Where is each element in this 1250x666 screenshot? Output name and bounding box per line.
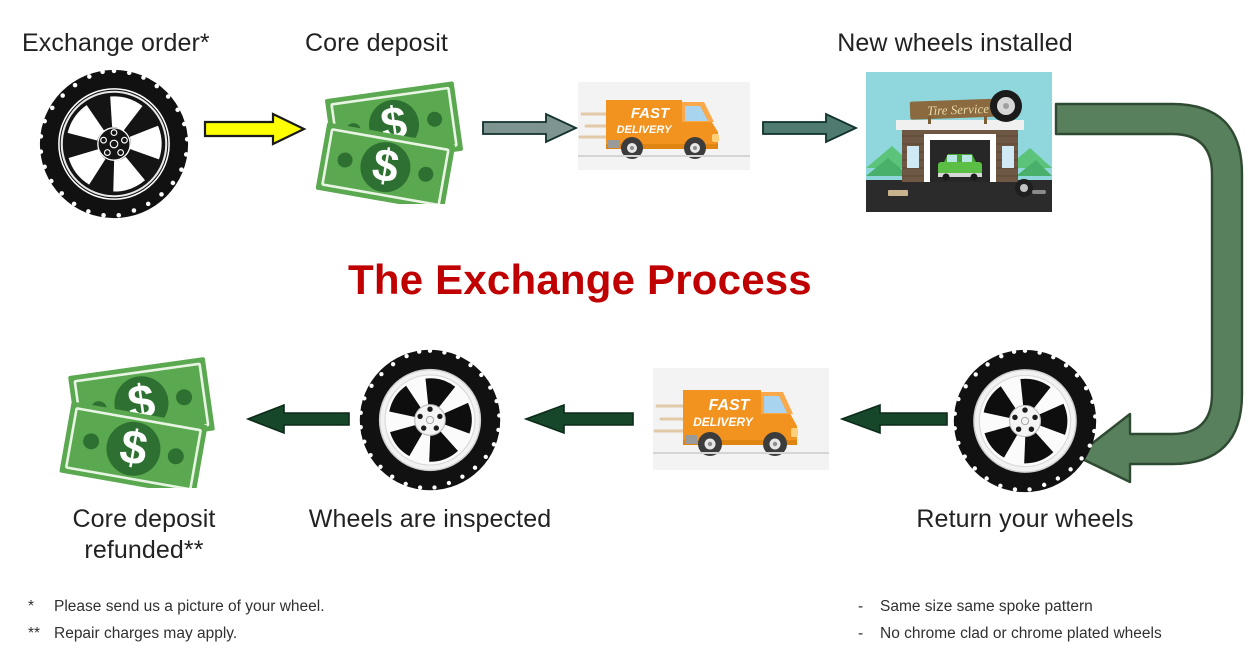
truck-text-delivery: DELIVERY — [693, 415, 754, 429]
step-label-refund-line1: Core deposit — [38, 504, 250, 535]
step-label-core-deposit: Core deposit — [305, 28, 505, 59]
tire-service-shop-graphic: Tire Service — [866, 72, 1052, 212]
dollar-bills-graphic-top: $ $ — [312, 72, 476, 204]
truck-text-fast: FAST — [709, 397, 751, 414]
notes-right: - Same size same spoke pattern - No chro… — [858, 594, 1250, 647]
dollar-bills-graphic-bottom: $ $ — [58, 352, 230, 488]
shop-sign-text: Tire Service — [927, 101, 990, 118]
note-text: No chrome clad or chrome plated wheels — [880, 621, 1162, 648]
truck-text-delivery: DELIVERY — [617, 124, 673, 136]
truck-text-fast: FAST — [631, 105, 671, 122]
note-right-1: - Same size same spoke pattern — [858, 594, 1250, 621]
note-right-2: - No chrome clad or chrome plated wheels — [858, 621, 1250, 648]
note-mark: - — [858, 594, 880, 621]
note-mark: ** — [28, 621, 54, 648]
notes-left: * Please send us a picture of your wheel… — [28, 594, 458, 647]
note-mark: * — [28, 594, 54, 621]
note-left-2: ** Repair charges may apply. — [28, 621, 458, 648]
delivery-truck-graphic-bottom: FAST DELIVERY — [653, 368, 829, 470]
step-label-exchange-order: Exchange order* — [22, 28, 237, 59]
wheel-silver-rim-graphic-inspected — [358, 348, 502, 492]
arrow-return-to-truck — [840, 403, 948, 435]
step-label-new-wheels-installed: New wheels installed — [820, 28, 1090, 59]
note-text: Please send us a picture of your wheel. — [54, 594, 325, 621]
step-label-core-deposit-refunded: Core deposit refunded** — [38, 504, 250, 565]
note-text: Repair charges may apply. — [54, 621, 237, 648]
wheel-black-rim-graphic — [38, 68, 190, 220]
arrow-truck-to-inspected — [524, 403, 634, 435]
exchange-process-diagram: Exchange order* Core deposit New wheels … — [0, 0, 1250, 666]
note-text: Same size same spoke pattern — [880, 594, 1093, 621]
delivery-truck-graphic-top: FAST DELIVERY — [578, 82, 750, 170]
step-label-return-your-wheels: Return your wheels — [900, 504, 1150, 535]
step-label-wheels-inspected: Wheels are inspected — [300, 504, 560, 535]
note-mark: - — [858, 621, 880, 648]
arrow-order-to-deposit — [203, 112, 307, 146]
page-title: The Exchange Process — [348, 256, 812, 304]
arrow-inspected-to-refund — [246, 403, 350, 435]
wheel-silver-rim-graphic-return — [952, 348, 1098, 494]
arrow-truck-to-shop — [762, 112, 858, 144]
step-label-refund-line2: refunded** — [38, 535, 250, 566]
arrow-deposit-to-truck — [482, 112, 578, 144]
note-left-1: * Please send us a picture of your wheel… — [28, 594, 458, 621]
